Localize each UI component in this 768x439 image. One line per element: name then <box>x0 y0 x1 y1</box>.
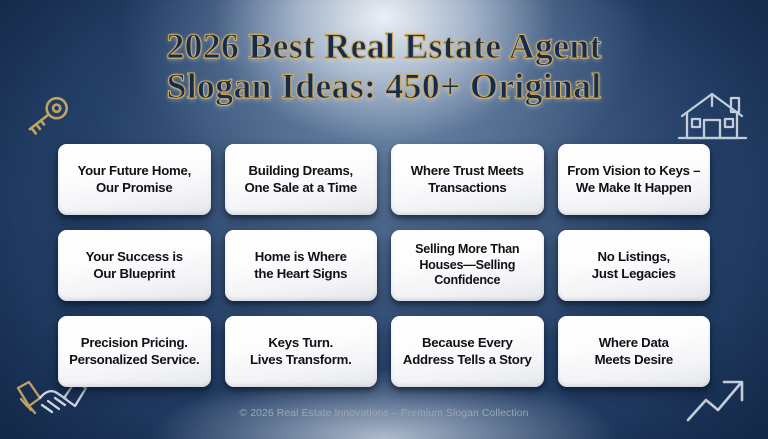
page-title: 2026 Best Real Estate Agent Slogan Ideas… <box>0 26 768 107</box>
slogan-card[interactable]: Because Every Address Tells a Story <box>391 316 544 387</box>
slogan-card-text: From Vision to Keys – We Make It Happen <box>567 163 700 197</box>
slogan-card[interactable]: Keys Turn. Lives Transform. <box>225 316 378 387</box>
slogan-card-text: Your Success is Our Blueprint <box>86 249 183 283</box>
slogan-poster: 2026 Best Real Estate Agent Slogan Ideas… <box>0 0 768 439</box>
footer-credit: © 2026 Real Estate Innovations – Premium… <box>0 408 768 419</box>
slogan-card-text: Keys Turn. Lives Transform. <box>250 335 352 369</box>
title-line-2: Slogan Ideas: 450+ Original <box>0 66 768 106</box>
slogan-card[interactable]: No Listings, Just Legacies <box>558 230 711 301</box>
slogan-card-text: Selling More Than Houses—Selling Confide… <box>415 242 519 288</box>
slogan-card-text: No Listings, Just Legacies <box>592 249 676 283</box>
slogan-card-text: Where Trust Meets Transactions <box>411 163 524 197</box>
slogan-card[interactable]: Selling More Than Houses—Selling Confide… <box>391 230 544 301</box>
slogan-card[interactable]: From Vision to Keys – We Make It Happen <box>558 144 711 215</box>
slogan-card-text: Where Data Meets Desire <box>595 335 673 369</box>
slogan-card[interactable]: Home is Where the Heart Signs <box>225 230 378 301</box>
slogan-card[interactable]: Your Success is Our Blueprint <box>58 230 211 301</box>
slogan-card-text: Because Every Address Tells a Story <box>403 335 532 369</box>
slogan-card[interactable]: Your Future Home, Our Promise <box>58 144 211 215</box>
slogan-card-text: Home is Where the Heart Signs <box>254 249 347 283</box>
slogan-card[interactable]: Building Dreams, One Sale at a Time <box>225 144 378 215</box>
slogan-card[interactable]: Where Data Meets Desire <box>558 316 711 387</box>
slogan-card-text: Building Dreams, One Sale at a Time <box>244 163 357 197</box>
slogan-card[interactable]: Precision Pricing. Personalized Service. <box>58 316 211 387</box>
slogan-card[interactable]: Where Trust Meets Transactions <box>391 144 544 215</box>
slogan-card-text: Precision Pricing. Personalized Service. <box>69 335 199 369</box>
slogan-grid: Your Future Home, Our PromiseBuilding Dr… <box>58 144 710 387</box>
title-line-1: 2026 Best Real Estate Agent <box>0 26 768 66</box>
slogan-card-text: Your Future Home, Our Promise <box>78 163 191 197</box>
